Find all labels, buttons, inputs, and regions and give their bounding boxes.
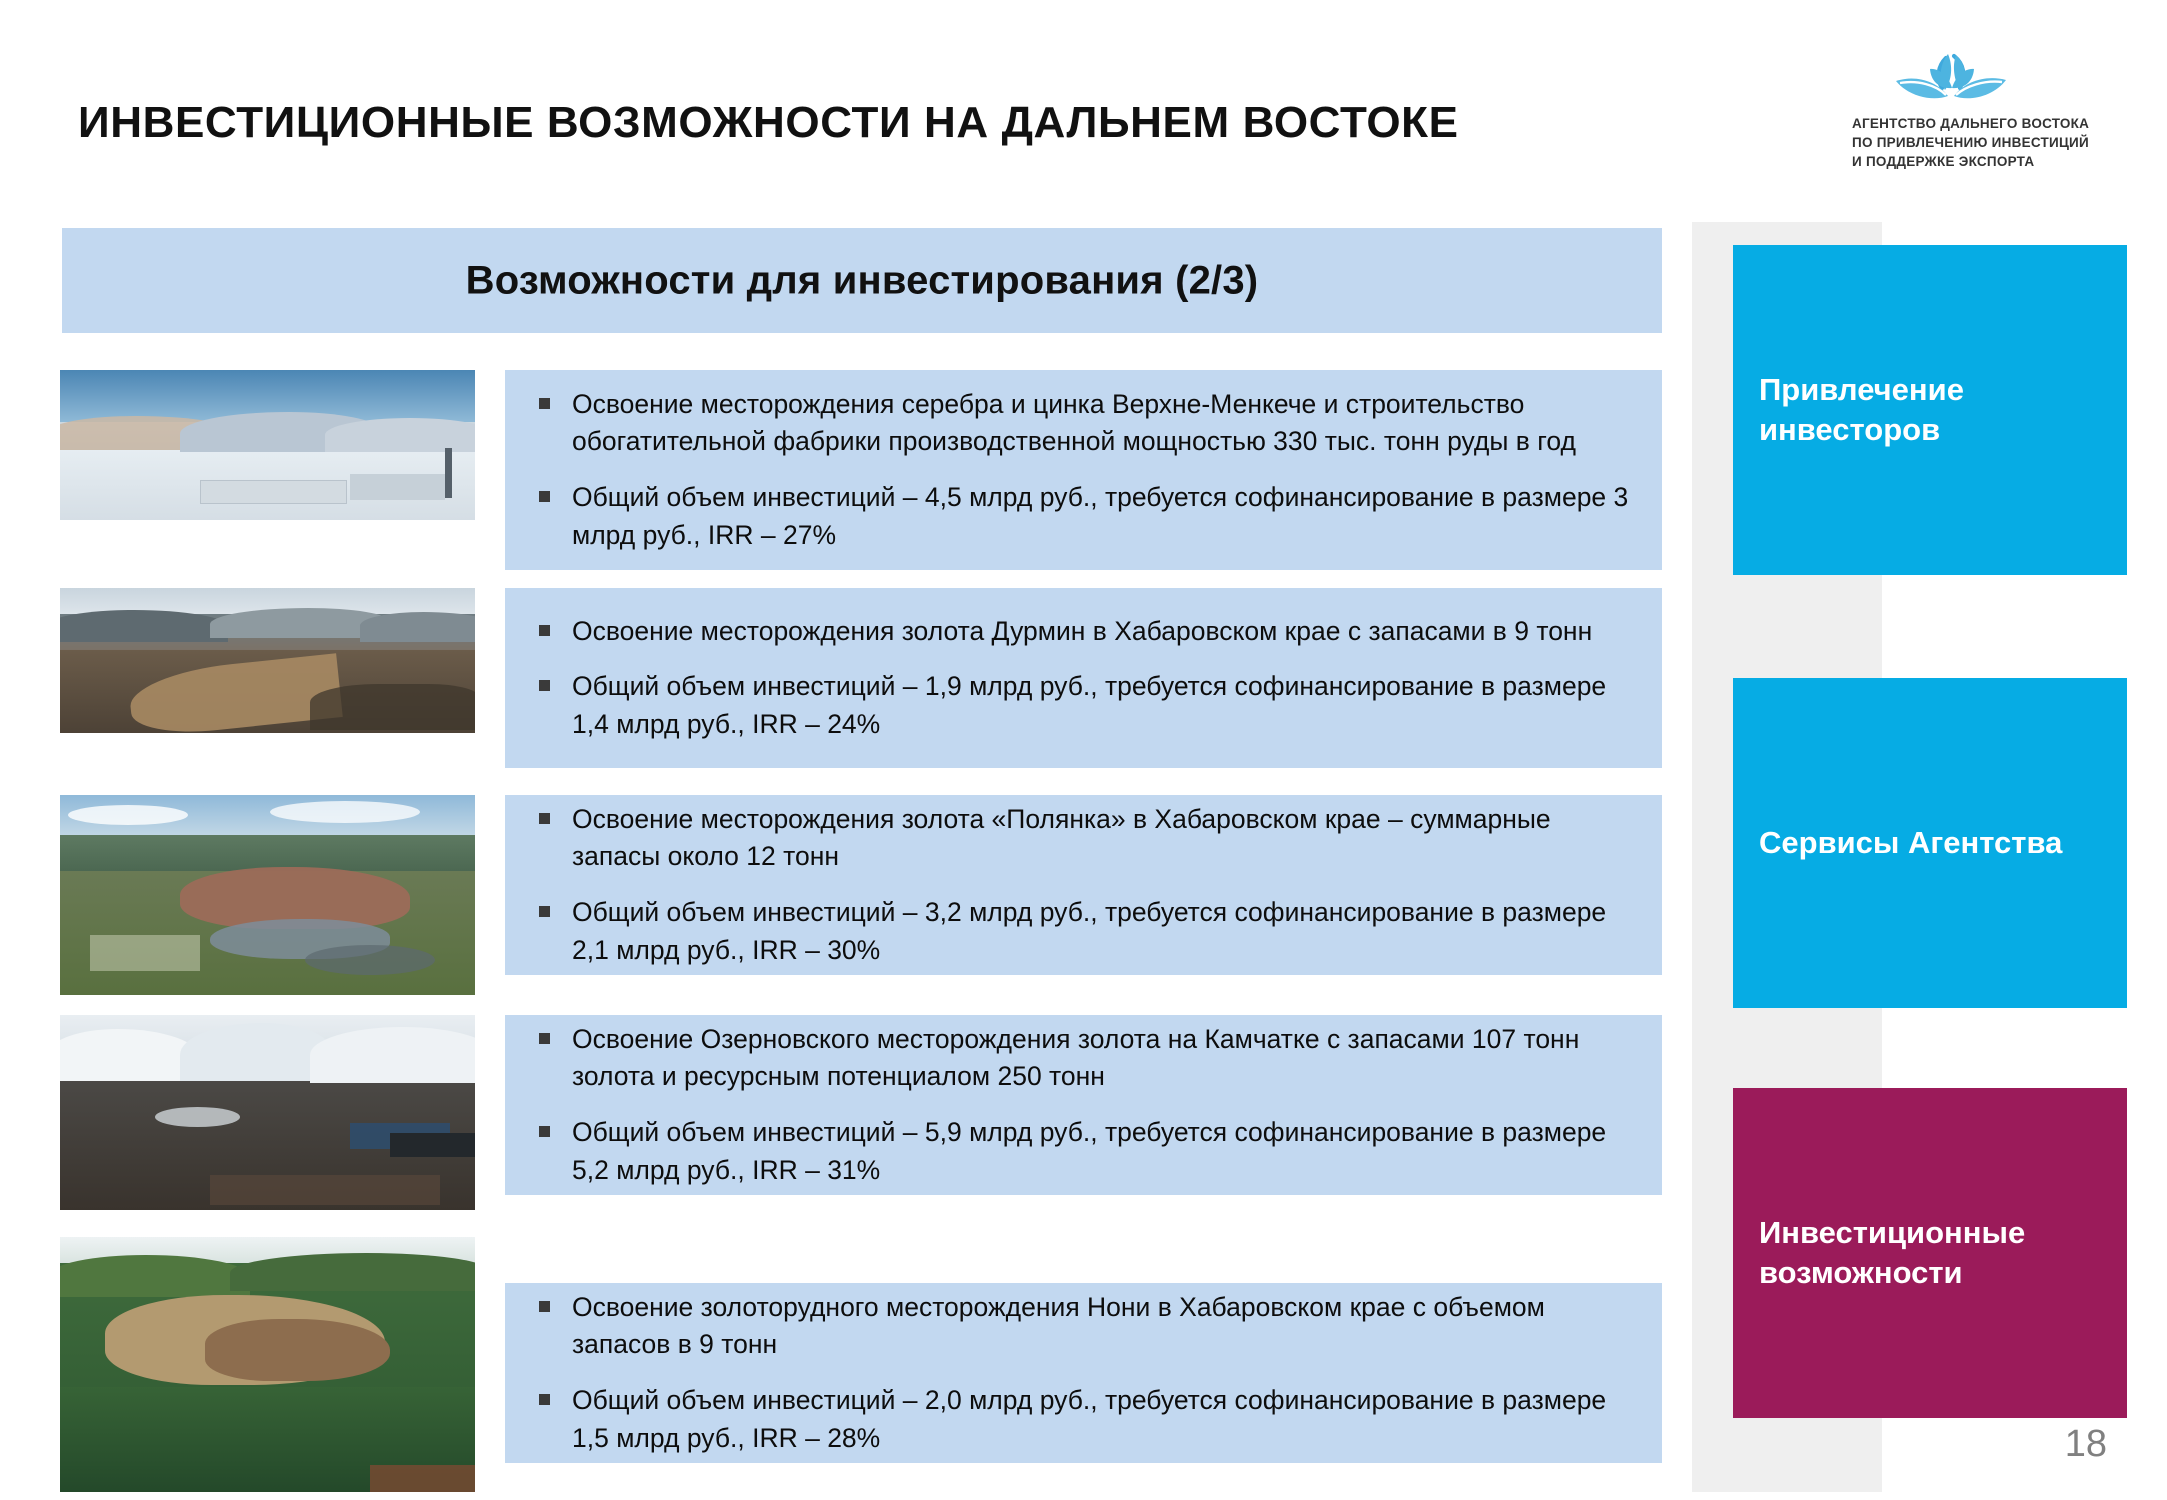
bullet-text: Освоение месторождения золота Дурмин в Х… — [572, 613, 1636, 651]
page-number: 18 — [2065, 1423, 2107, 1466]
opportunity-card: Освоение месторождения серебра и цинка В… — [505, 370, 1662, 570]
bullet-square-icon — [539, 813, 550, 824]
bullet-item: Общий объем инвестиций – 3,2 млрд руб., … — [527, 894, 1636, 969]
logo-line-3: И ПОДДЕРЖКЕ ЭКСПОРТА — [1852, 152, 2142, 171]
bullet-text: Общий объем инвестиций – 5,9 млрд руб., … — [572, 1114, 1636, 1189]
opportunity-card: Освоение месторождения золота Дурмин в Х… — [505, 588, 1662, 768]
nav-panel-label: Привлечение инвесторов — [1759, 370, 2101, 451]
bullet-text: Освоение золоторудного месторождения Нон… — [572, 1289, 1636, 1364]
presentation-slide: ИНВЕСТИЦИОННЫЕ ВОЗМОЖНОСТИ НА ДАЛЬНЕМ ВО… — [0, 0, 2167, 1500]
bullet-item: Общий объем инвестиций – 2,0 млрд руб., … — [527, 1382, 1636, 1457]
section-banner: Возможности для инвестирования (2/3) — [62, 228, 1662, 333]
nav-panel-attract-investors[interactable]: Привлечение инвесторов — [1733, 245, 2127, 575]
nav-panel-agency-services[interactable]: Сервисы Агентства — [1733, 678, 2127, 1008]
section-banner-heading: Возможности для инвестирования (2/3) — [62, 258, 1662, 303]
photo-durmin-hills-road — [60, 588, 475, 733]
bullet-square-icon — [539, 680, 550, 691]
bullet-text: Общий объем инвестиций – 3,2 млрд руб., … — [572, 894, 1636, 969]
bullet-item: Освоение золоторудного месторождения Нон… — [527, 1289, 1636, 1364]
agency-logo: АГЕНТСТВО ДАЛЬНЕГО ВОСТОКА ПО ПРИВЛЕЧЕНИ… — [1852, 42, 2142, 182]
bullet-square-icon — [539, 398, 550, 409]
logo-line-2: ПО ПРИВЛЕЧЕНИЮ ИНВЕСТИЦИЙ — [1852, 133, 2142, 152]
logo-line-1: АГЕНТСТВО ДАЛЬНЕГО ВОСТОКА — [1852, 114, 2142, 133]
photo-noni-forest-clearing — [60, 1237, 475, 1492]
nav-panel-label: Инвестиционные возможности — [1759, 1213, 2101, 1294]
bullet-text: Освоение месторождения золота «Полянка» … — [572, 801, 1636, 876]
bullet-item: Освоение месторождения серебра и цинка В… — [527, 386, 1636, 461]
bullet-text: Общий объем инвестиций – 2,0 млрд руб., … — [572, 1382, 1636, 1457]
opportunity-card: Освоение золоторудного месторождения Нон… — [505, 1283, 1662, 1463]
bullet-item: Освоение Озерновского месторождения золо… — [527, 1021, 1636, 1096]
nav-panel-label: Сервисы Агентства — [1759, 823, 2062, 863]
bullet-text: Освоение месторождения серебра и цинка В… — [572, 386, 1636, 461]
bullet-square-icon — [539, 1394, 550, 1405]
bullet-square-icon — [539, 625, 550, 636]
bullet-square-icon — [539, 906, 550, 917]
bullet-item: Освоение месторождения золота «Полянка» … — [527, 801, 1636, 876]
bullet-text: Освоение Озерновского месторождения золо… — [572, 1021, 1636, 1096]
bullet-square-icon — [539, 491, 550, 502]
nav-panel-investment-opportunities[interactable]: Инвестиционные возможности — [1733, 1088, 2127, 1418]
opportunity-card: Освоение месторождения золота «Полянка» … — [505, 795, 1662, 975]
bullet-item: Общий объем инвестиций – 1,9 млрд руб., … — [527, 668, 1636, 743]
opportunity-card: Освоение Озерновского месторождения золо… — [505, 1015, 1662, 1195]
slide-title: ИНВЕСТИЦИОННЫЕ ВОЗМОЖНОСТИ НА ДАЛЬНЕМ ВО… — [78, 100, 1638, 146]
bullet-item: Освоение месторождения золота Дурмин в Х… — [527, 613, 1636, 651]
photo-polyanka-open-pit-aerial — [60, 795, 475, 995]
bullet-item: Общий объем инвестиций – 4,5 млрд руб., … — [527, 479, 1636, 554]
lotus-logo-icon — [1876, 42, 2026, 114]
bullet-square-icon — [539, 1126, 550, 1137]
logo-wordmark: АГЕНТСТВО ДАЛЬНЕГО ВОСТОКА ПО ПРИВЛЕЧЕНИ… — [1852, 114, 2142, 171]
bullet-text: Общий объем инвестиций – 4,5 млрд руб., … — [572, 479, 1636, 554]
photo-verhne-menkeche-winter-site — [60, 370, 475, 520]
bullet-square-icon — [539, 1301, 550, 1312]
bullet-square-icon — [539, 1033, 550, 1044]
bullet-text: Общий объем инвестиций – 1,9 млрд руб., … — [572, 668, 1636, 743]
bullet-item: Общий объем инвестиций – 5,9 млрд руб., … — [527, 1114, 1636, 1189]
photo-ozernovskoe-snow-mountains-mine — [60, 1015, 475, 1210]
